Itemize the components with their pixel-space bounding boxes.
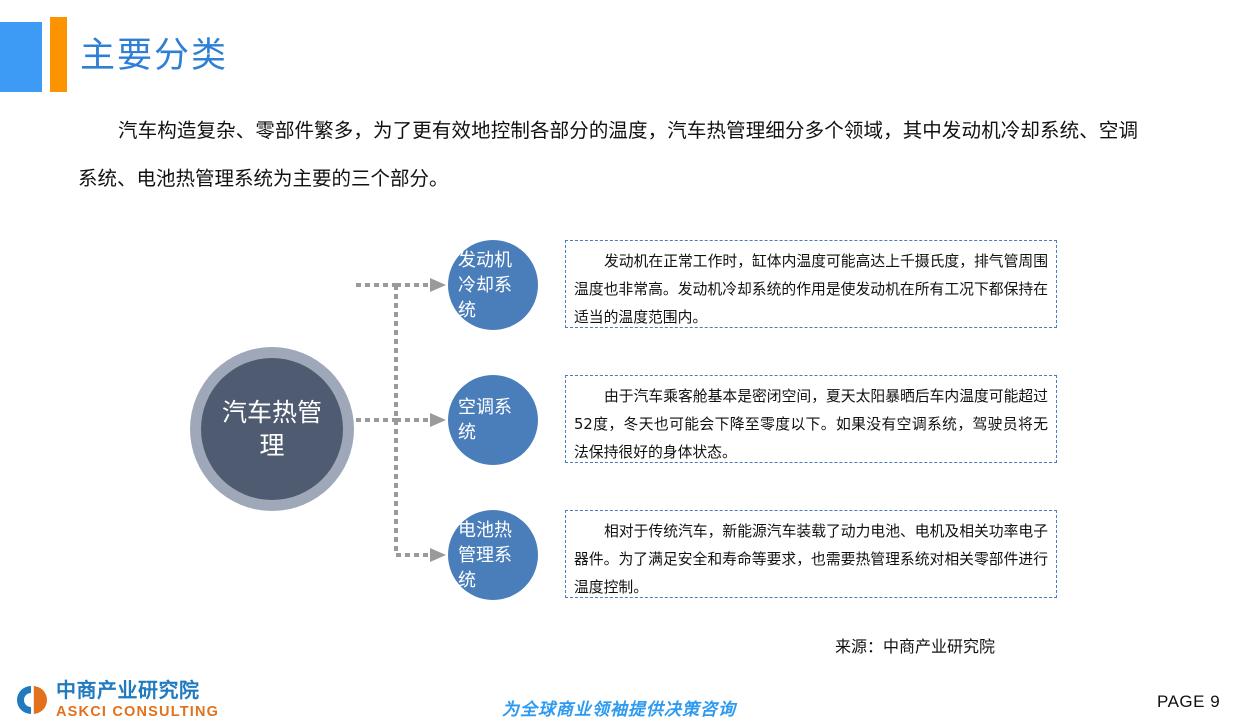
callout-engine-cooling: 发动机在正常工作时，缸体内温度可能高达上千摄氏度，排气管周围温度也非常高。发动机… — [565, 240, 1057, 328]
diagram-node-label: 电池热管理系统 — [458, 518, 528, 593]
footer-logo-en: ASKCI CONSULTING — [56, 705, 219, 720]
header-accent-square — [0, 22, 42, 92]
callout-battery-thermal: 相对于传统汽车，新能源汽车装载了动力电池、电机及相关功率电子器件。为了满足安全和… — [565, 510, 1057, 598]
diagram-node-label: 发动机冷却系统 — [458, 248, 528, 323]
callout-air-conditioning: 由于汽车乘客舱基本是密闭空间，夏天太阳暴晒后车内温度可能超过52度，冬天也可能会… — [565, 375, 1057, 463]
diagram-hub-node[interactable]: 汽车热管理 — [190, 347, 354, 511]
arrowhead-2-icon — [430, 413, 446, 427]
header-accent-bar — [50, 17, 67, 92]
diagram-node-battery-thermal[interactable]: 电池热管理系统 — [448, 510, 538, 600]
footer-tagline: 为全球商业领袖提供决策咨询 — [502, 695, 736, 720]
footer-logo: 中商产业研究院 ASKCI CONSULTING — [12, 681, 219, 720]
intro-paragraph: 汽车构造复杂、零部件繁多，为了更有效地控制各部分的温度，汽车热管理细分多个领域，… — [78, 107, 1138, 203]
arrowhead-1-icon — [430, 278, 446, 292]
askci-logo-icon — [12, 683, 48, 717]
diagram-node-engine-cooling[interactable]: 发动机冷却系统 — [448, 240, 538, 330]
diagram-node-air-conditioning[interactable]: 空调系统 — [448, 375, 538, 465]
footer-page-number: PAGE 9 — [1157, 692, 1220, 712]
source-note: 来源：中商产业研究院 — [835, 633, 995, 657]
diagram-hub-inner: 汽车热管理 — [201, 358, 343, 500]
diagram-hub-label: 汽车热管理 — [218, 396, 326, 462]
arrowhead-3-icon — [430, 548, 446, 562]
diagram-node-label: 空调系统 — [458, 395, 528, 445]
footer-logo-cn: 中商产业研究院 — [56, 681, 219, 701]
footer-logo-text: 中商产业研究院 ASKCI CONSULTING — [56, 681, 219, 720]
page-title: 主要分类 — [80, 27, 228, 78]
